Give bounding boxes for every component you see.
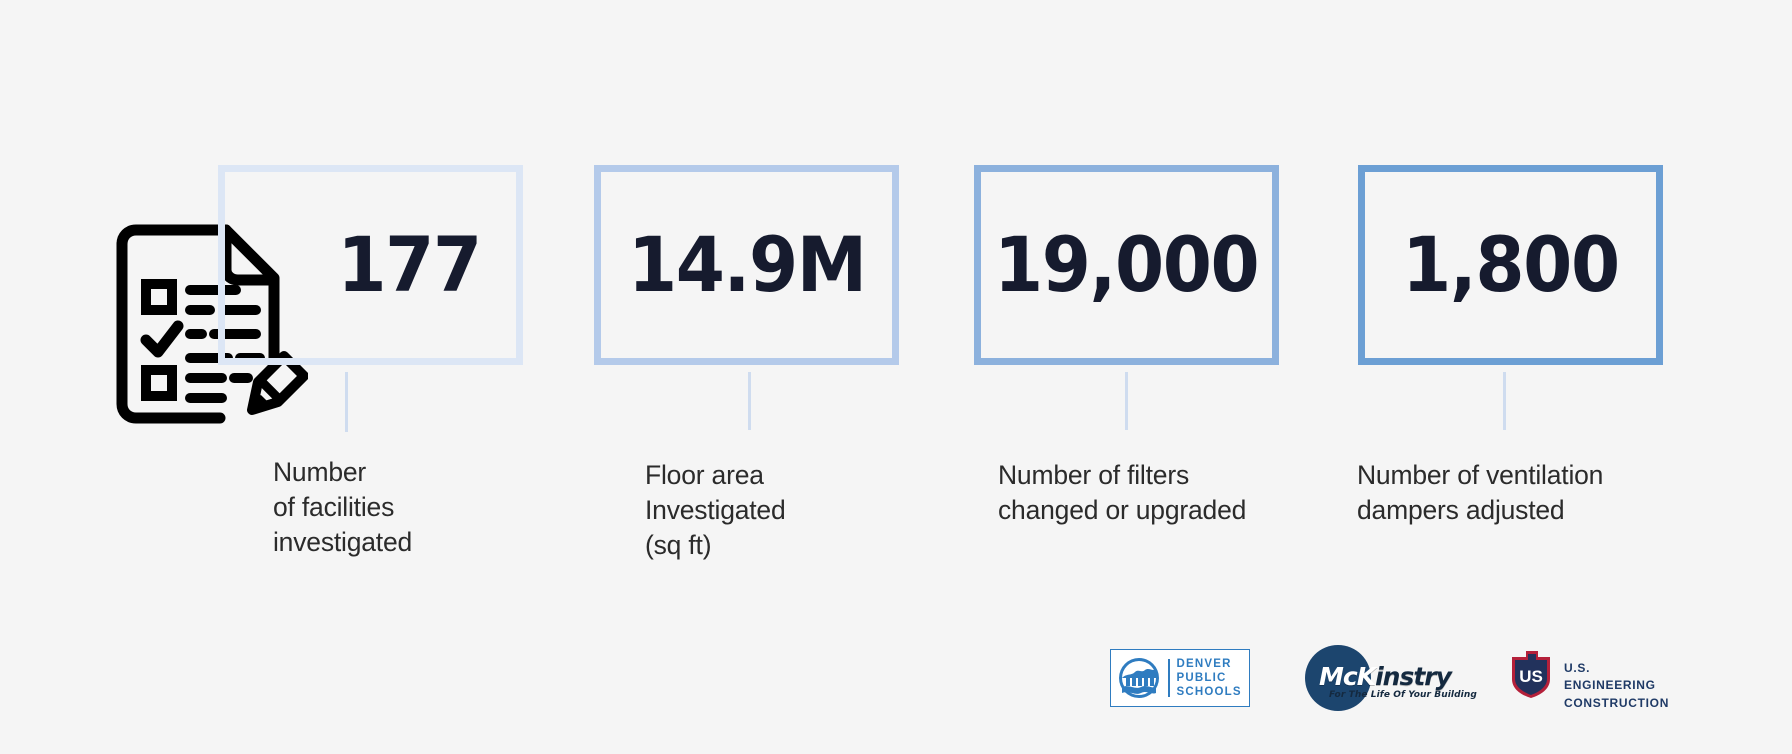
- infographic-canvas: 177 14.9M 19,000 1,800 Number of facilit…: [0, 0, 1792, 754]
- stat-value-2: 14.9M: [628, 227, 866, 303]
- stat-caption-3: Number of filters changed or upgraded: [998, 458, 1246, 528]
- stat-box-4: 1,800: [1358, 165, 1663, 365]
- us-shield-icon: US: [1508, 649, 1554, 699]
- dps-emblem-icon: [1117, 656, 1161, 700]
- stat-value-3: 19,000: [994, 227, 1258, 303]
- stat-value-4: 1,800: [1402, 227, 1619, 303]
- us-engineering-wordmark: U.S. ENGINEERING CONSTRUCTION: [1564, 660, 1683, 712]
- connector-line-1: [345, 372, 348, 432]
- stat-caption-4: Number of ventilation dampers adjusted: [1357, 458, 1603, 528]
- stat-box-1: 177: [218, 165, 523, 365]
- dps-wordmark: DENVER PUBLIC SCHOOLS: [1177, 657, 1242, 699]
- stat-box-2: 14.9M: [594, 165, 899, 365]
- stat-caption-1: Number of facilities investigated: [273, 455, 412, 560]
- stat-box-3: 19,000: [974, 165, 1279, 365]
- mckinstry-wordmark-part2: instry: [1375, 662, 1451, 691]
- connector-line-3: [1125, 372, 1128, 430]
- mckinstry-wordmark: McKinstry: [1319, 662, 1451, 691]
- svg-text:US: US: [1519, 667, 1543, 686]
- mckinstry-tagline: For The Life Of Your Building: [1329, 690, 1477, 700]
- connector-line-4: [1503, 372, 1506, 430]
- mckinstry-logo: McKinstry For The Life Of Your Building: [1305, 645, 1465, 711]
- dps-divider: [1168, 659, 1170, 697]
- stat-value-1: 177: [338, 227, 481, 303]
- connector-line-2: [748, 372, 751, 430]
- denver-public-schools-logo: DENVER PUBLIC SCHOOLS: [1110, 649, 1250, 707]
- stat-caption-2: Floor area Investigated (sq ft): [645, 458, 786, 563]
- mckinstry-wordmark-part1: McK: [1319, 662, 1375, 691]
- partner-logo-row: DENVER PUBLIC SCHOOLS McKinstry For The …: [1110, 645, 1670, 717]
- us-engineering-logo: US U.S. ENGINEERING CONSTRUCTION: [1508, 649, 1683, 707]
